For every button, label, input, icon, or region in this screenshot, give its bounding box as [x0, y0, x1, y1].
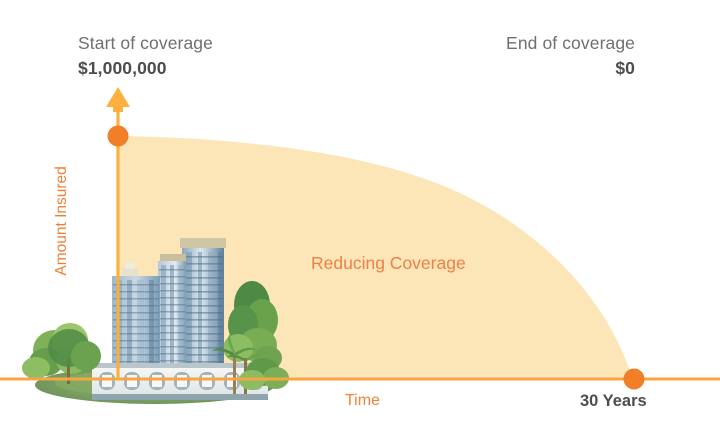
x-axis-end-label: 30 Years [580, 392, 647, 411]
slide-canvas: Start of coverage $1,000,000 End of cove… [0, 0, 720, 431]
x-axis-label: Time [345, 392, 380, 410]
end-of-coverage-caption: End of coverage [506, 33, 635, 53]
end-marker-dot[interactable] [624, 369, 645, 390]
y-axis-label: Amount Insured [53, 141, 71, 301]
start-of-coverage-value: $1,000,000 [78, 58, 167, 78]
end-of-coverage-value: $0 [615, 58, 635, 78]
reducing-coverage-label: Reducing Coverage [311, 253, 466, 273]
tower-mid [158, 254, 186, 376]
start-marker-dot[interactable] [108, 126, 129, 147]
y-axis-arrowhead [106, 87, 130, 112]
start-of-coverage-caption: Start of coverage [78, 33, 213, 53]
tower-tall [180, 238, 226, 376]
